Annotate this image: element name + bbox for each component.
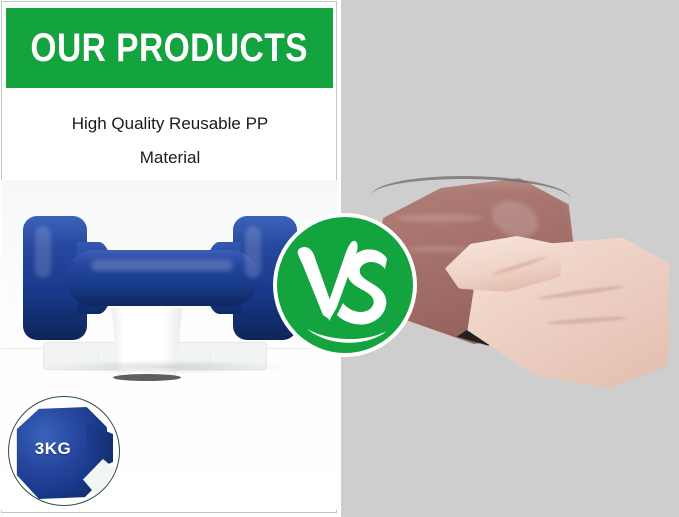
dumbbell-grip-bar bbox=[67, 250, 257, 306]
weight-label: 3KG bbox=[21, 439, 85, 459]
blue-dumbbell bbox=[5, 212, 315, 352]
our-products-subtitle-line-2: Material bbox=[16, 141, 324, 175]
dumbbell-head-highlight bbox=[245, 226, 261, 278]
vs-badge-circle bbox=[277, 217, 413, 353]
our-products-subtitle-line-1: High Quality Reusable PP bbox=[16, 107, 324, 141]
our-products-title: OUR PRODUCTS bbox=[31, 28, 309, 68]
our-products-subtitle: High Quality Reusable PP Material bbox=[16, 107, 324, 175]
dumbbell-head-highlight bbox=[35, 226, 51, 278]
weight-inset-badge: 3KG bbox=[8, 396, 120, 506]
vs-badge bbox=[271, 211, 419, 359]
dumbbell-highlight bbox=[91, 260, 233, 271]
our-products-header-bar: OUR PRODUCTS bbox=[6, 8, 333, 88]
cup-base-shadow bbox=[113, 374, 181, 381]
dumbbell-shadow bbox=[39, 360, 289, 374]
product-comparison-graphic: OUR PRODUCTS High Quality Reusable PP Ma… bbox=[0, 0, 679, 517]
